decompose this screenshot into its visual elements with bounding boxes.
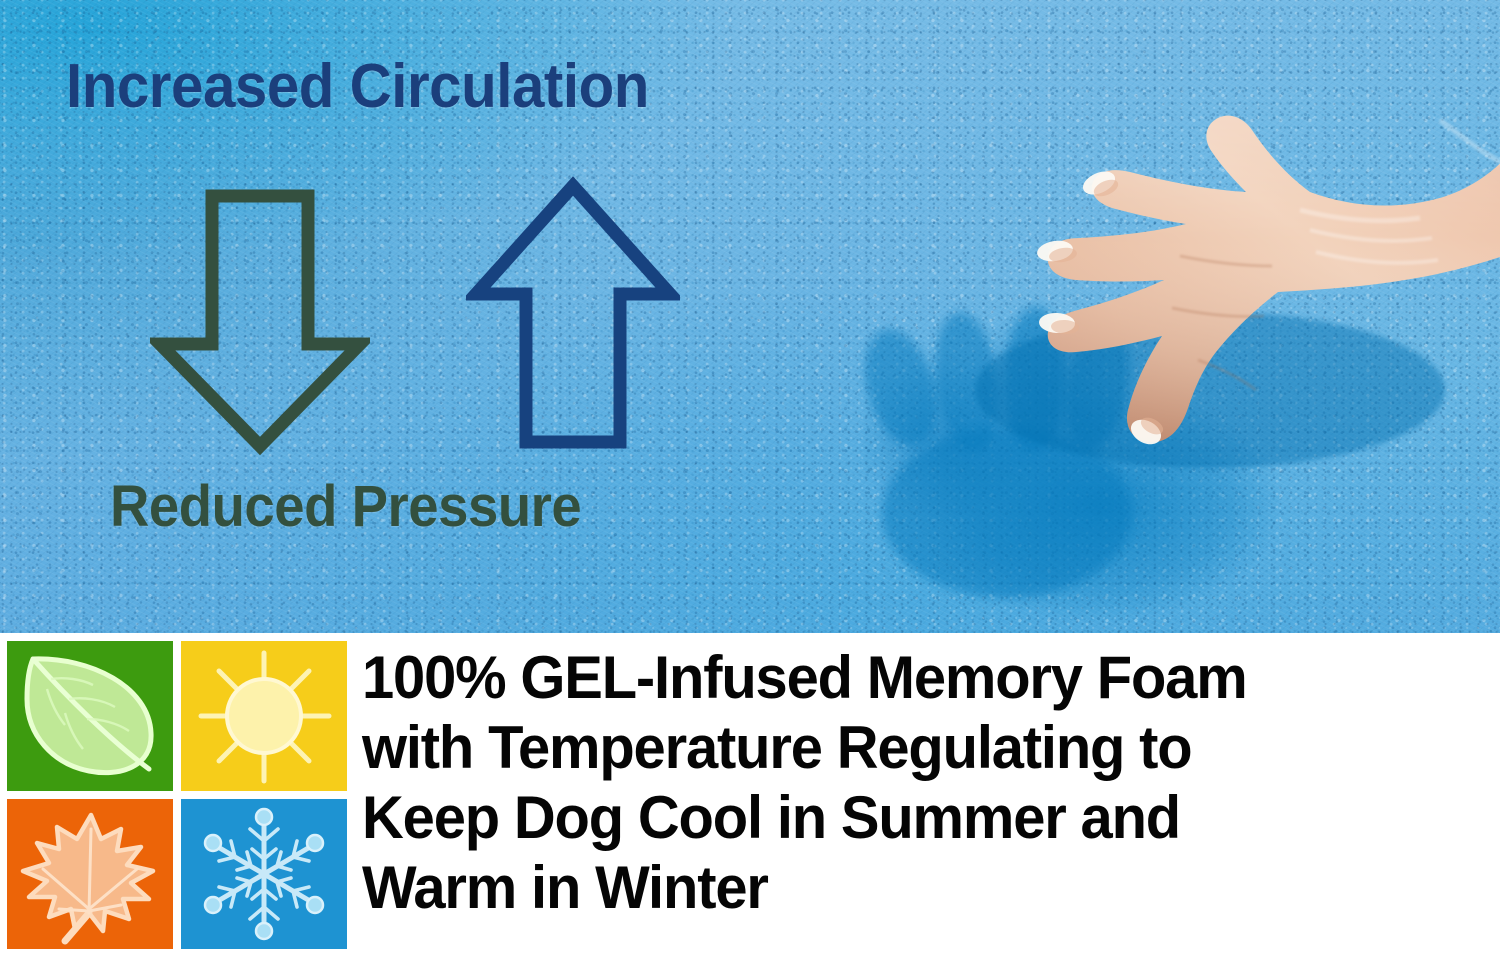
sun-icon (181, 641, 347, 791)
season-tile-autumn (7, 799, 173, 949)
four-seasons-icon-grid (7, 641, 347, 956)
maple-leaf-icon (7, 799, 173, 949)
down-arrow-icon (150, 186, 370, 456)
snowflake-icon (181, 799, 347, 949)
headline-line-3: Keep Dog Cool in Summer and (362, 783, 1457, 853)
heading-increased-circulation: Increased Circulation (66, 56, 649, 118)
season-tile-summer (181, 641, 347, 791)
human-hand-photo (880, 60, 1500, 480)
headline-line-1: 100% GEL-Infused Memory Foam (362, 643, 1457, 713)
headline-line-4: Warm in Winter (362, 853, 1457, 923)
season-tile-winter (181, 799, 347, 949)
heading-reduced-pressure: Reduced Pressure (110, 478, 581, 536)
product-infographic: Increased Circulation Reduced Pressure (0, 0, 1500, 962)
headline-line-2: with Temperature Regulating to (362, 713, 1457, 783)
leaf-icon (7, 641, 173, 791)
product-headline: 100% GEL-Infused Memory Foam with Temper… (362, 643, 1457, 923)
up-arrow-icon (466, 176, 680, 452)
season-tile-spring (7, 641, 173, 791)
bottom-feature-band: 100% GEL-Infused Memory Foam with Temper… (0, 633, 1500, 962)
gel-foam-photo-panel: Increased Circulation Reduced Pressure (0, 0, 1500, 633)
